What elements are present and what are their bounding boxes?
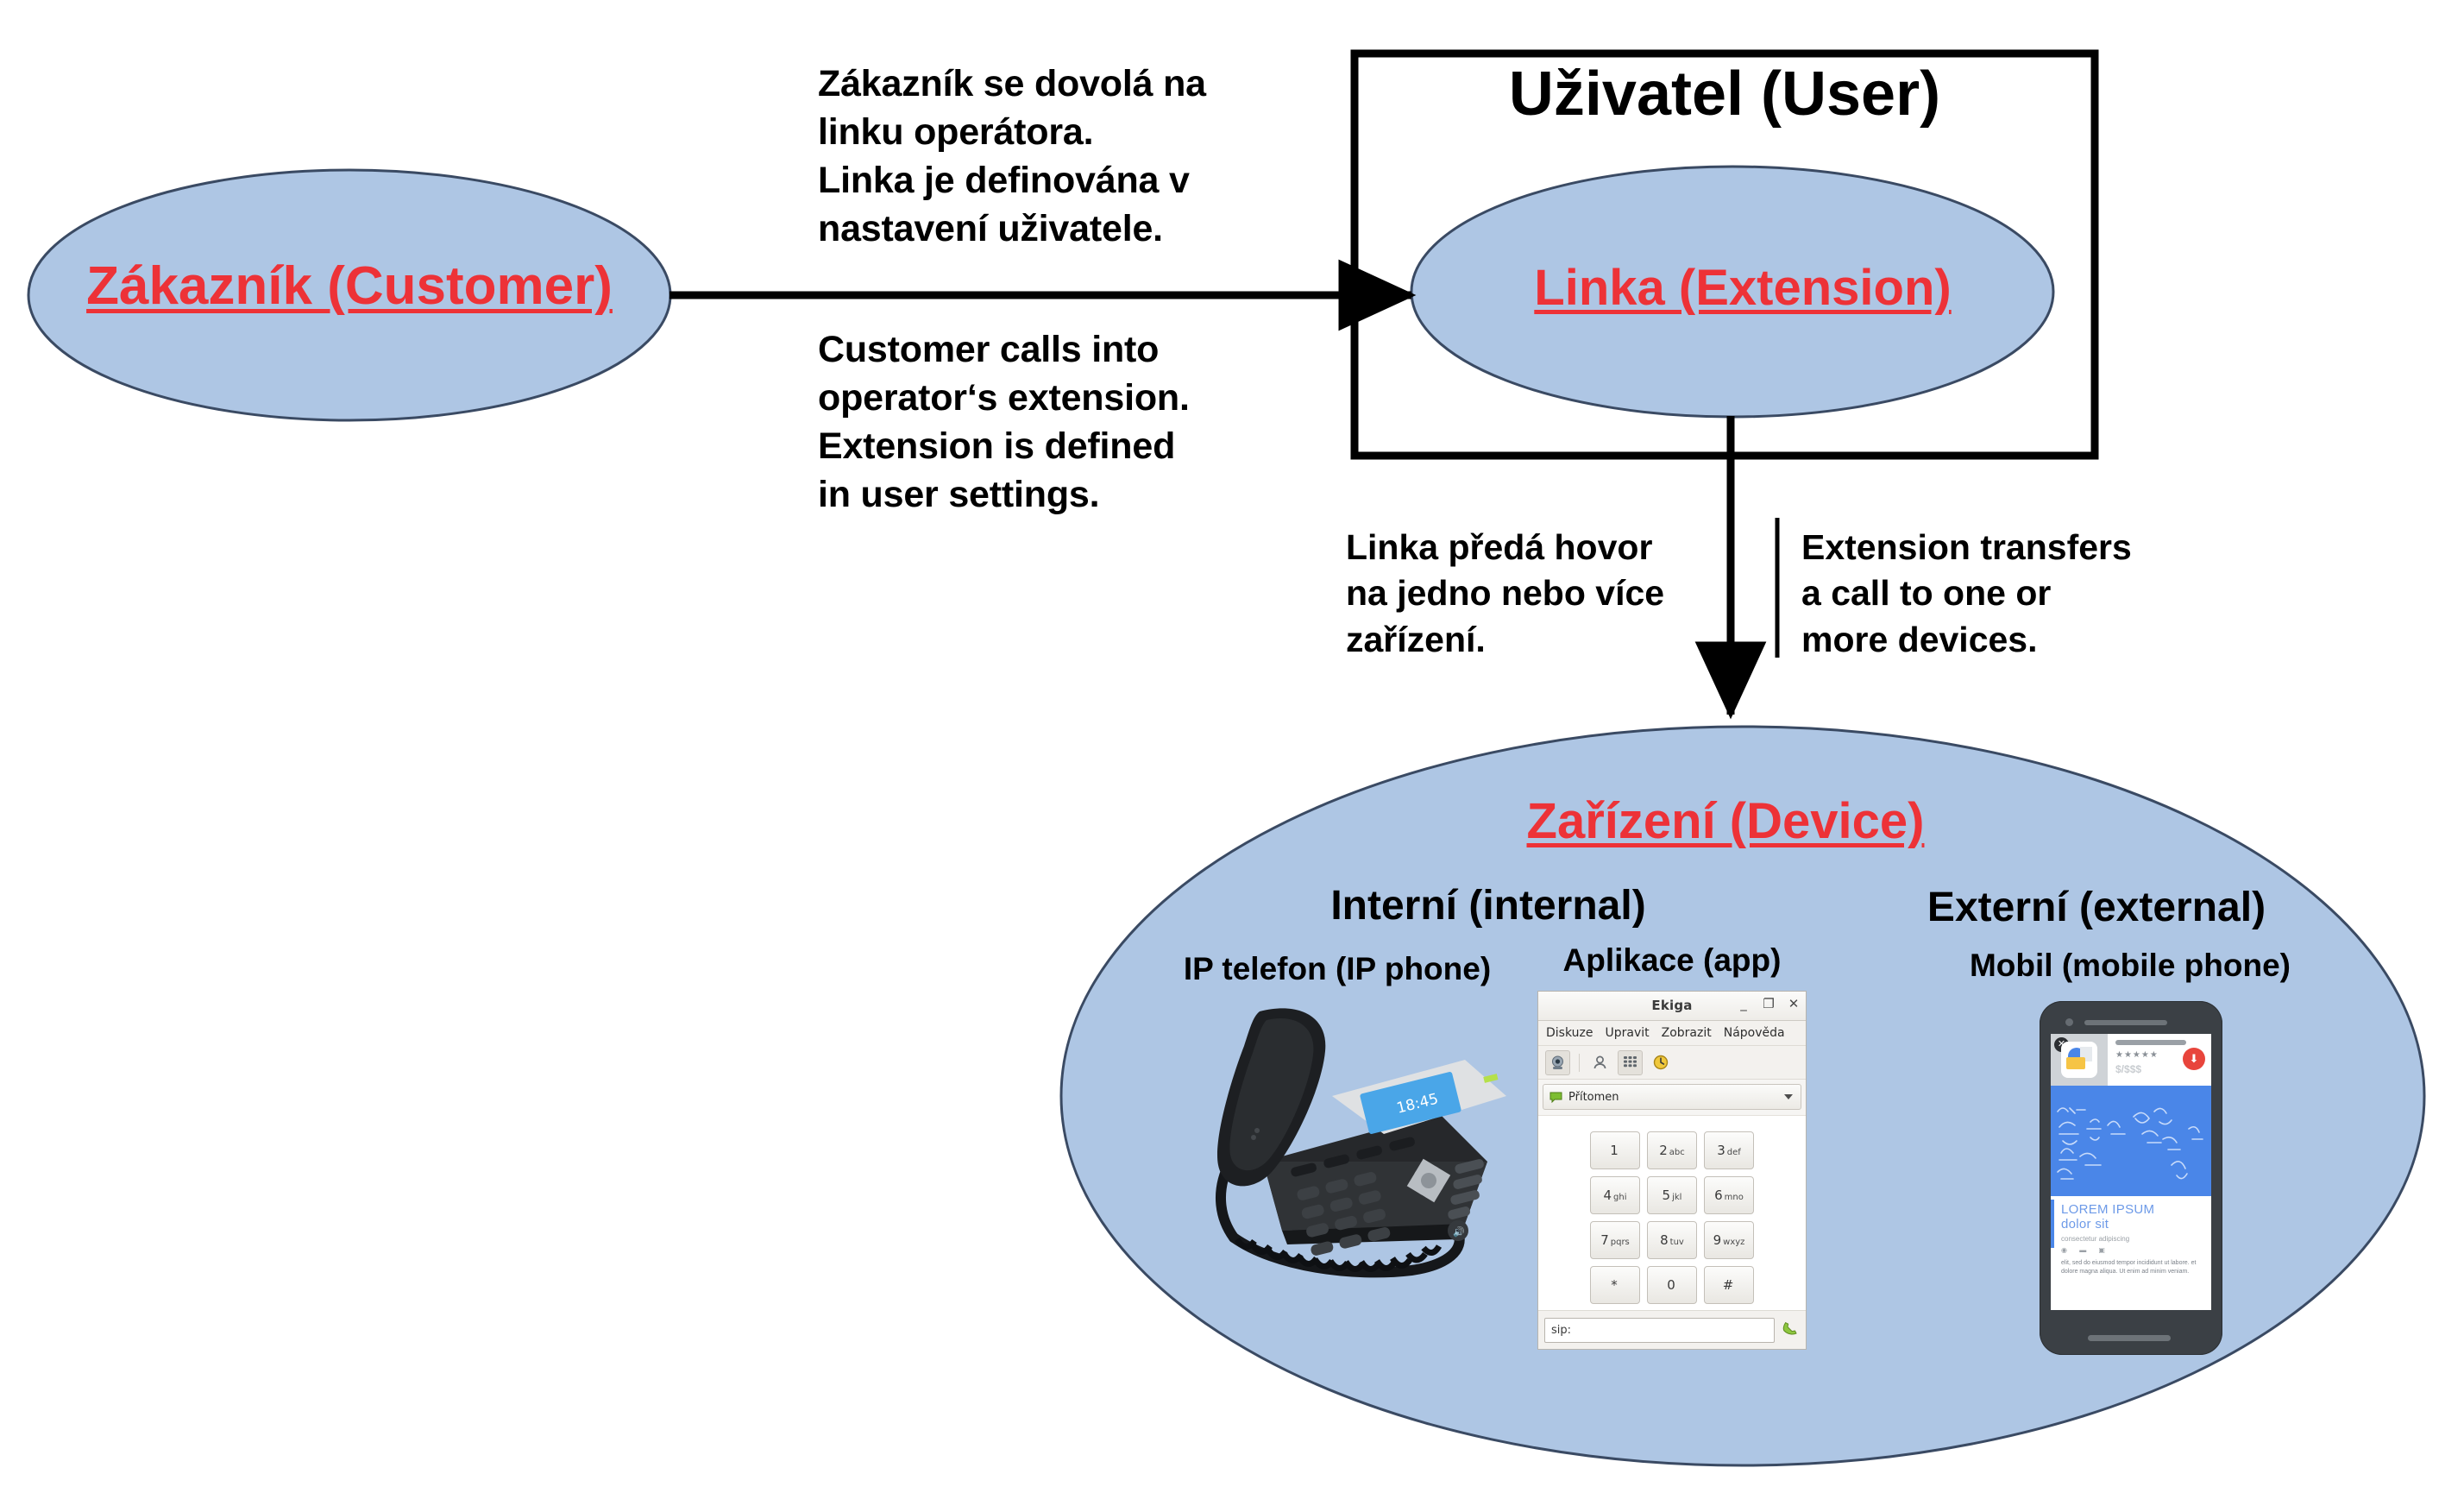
bottom-speaker [2088, 1335, 2171, 1341]
keypad-key: 0 [1647, 1266, 1697, 1304]
presence-status-select[interactable]: Přítomen [1543, 1084, 1801, 1110]
article-body: elit, sed do eiusmod tempor incididunt u… [2061, 1259, 2203, 1277]
key-letters: tuv [1670, 1238, 1684, 1247]
key-letters: abc [1669, 1148, 1685, 1157]
ekiga-keypad[interactable]: 1 2abc 3def 4ghi 5jkl 6mno 7pqrs 8tuv 9w… [1590, 1131, 1754, 1304]
keypad-key: 1 [1590, 1131, 1640, 1169]
device-caption-ip-phone: IP telefon (IP phone) [1156, 951, 1518, 987]
key-digit: 1 [1610, 1143, 1619, 1158]
key-digit: 5 [1663, 1187, 1671, 1203]
node-label-customer: Zákazník (Customer) [0, 255, 699, 317]
app-meta: ★★★★★ $/$$$ ⬇ [2108, 1034, 2211, 1086]
note-transfer-en: Extension transfers a call to one or mor… [1801, 525, 2216, 663]
node-label-extension: Linka (Extension) [1415, 259, 2071, 317]
maximize-icon[interactable]: ❐ [1762, 996, 1776, 1011]
device-caption-mobile: Mobil (mobile phone) [1927, 948, 2333, 984]
keypad-key: 3def [1704, 1131, 1754, 1169]
menu-item-napoveda[interactable]: Nápověda [1724, 1026, 1785, 1040]
keypad-key: # [1704, 1266, 1754, 1304]
menu-item-upravit[interactable]: Upravit [1605, 1026, 1649, 1040]
user-box-title: Uživatel (User) [1353, 59, 2096, 129]
key-digit: 0 [1667, 1277, 1675, 1293]
article-headline: LOREM IPSUM [2061, 1203, 2203, 1218]
presence-online-icon [1549, 1092, 1562, 1103]
front-camera-icon [2065, 1018, 2073, 1026]
presence-status-label: Přítomen [1568, 1091, 1619, 1104]
keypad-key: 4ghi [1590, 1176, 1640, 1214]
note-customer-call-cs: Zákazník se dovolá na linku operátora. L… [818, 60, 1318, 254]
app-thumbnail: ✕ [2051, 1034, 2108, 1086]
earpiece-speaker [2084, 1020, 2167, 1025]
key-letters: ghi [1613, 1193, 1626, 1202]
key-digit: 4 [1603, 1187, 1612, 1203]
ekiga-app-window[interactable]: Ekiga _ ❐ ✕ Diskuze Upravit Zobrazit Náp… [1537, 991, 1807, 1350]
sip-uri-value: sip: [1551, 1324, 1571, 1337]
ekiga-toolbar [1538, 1046, 1806, 1080]
app-promo-card[interactable]: ✕ ★★★★★ $/$$$ ⬇ [2051, 1034, 2211, 1086]
ekiga-dial-row: sip: [1538, 1310, 1806, 1349]
phone-screen: ✕ ★★★★★ $/$$$ ⬇ [2051, 1034, 2211, 1310]
app-icon [2061, 1042, 2097, 1078]
note-transfer-cs: Linka předá hovor na jedno nebo více zař… [1346, 525, 1743, 663]
article-meta-icons: ◉ ▬ ▣ [2061, 1246, 2203, 1254]
diagram-canvas: Uživatel (User) Zákazník (Customer) Link… [0, 0, 2464, 1493]
math-formula-doodle-icon [2051, 1086, 2211, 1196]
keypad-key: 8tuv [1647, 1221, 1697, 1259]
history-icon[interactable] [1649, 1051, 1672, 1074]
green-handset-icon[interactable] [1781, 1319, 1800, 1341]
mobile-phone-image: ✕ ★★★★★ $/$$$ ⬇ [2040, 1001, 2222, 1355]
key-letters: def [1727, 1148, 1741, 1157]
key-digit: 6 [1714, 1187, 1723, 1203]
device-group-internal: Interní (internal) [1191, 882, 1786, 929]
price-muted: $$$ [2124, 1063, 2141, 1075]
ekiga-window-buttons: _ ❐ ✕ [1737, 996, 1801, 1011]
key-letters: mno [1725, 1193, 1744, 1202]
key-digit: 9 [1713, 1232, 1722, 1248]
node-label-device: Zařízení (Device) [1415, 792, 2036, 850]
hero-image [2051, 1086, 2211, 1196]
article-headline-2: dolor sit [2061, 1218, 2203, 1232]
key-digit: # [1723, 1277, 1734, 1293]
key-digit: 7 [1600, 1232, 1609, 1248]
keypad-key: 7pqrs [1590, 1221, 1640, 1259]
contact-icon[interactable] [1588, 1051, 1612, 1074]
keypad-key: * [1590, 1266, 1640, 1304]
keypad-key: 2abc [1647, 1131, 1697, 1169]
minimize-icon[interactable]: _ [1737, 996, 1751, 1011]
menu-item-diskuze[interactable]: Diskuze [1546, 1026, 1593, 1040]
sip-uri-input[interactable]: sip: [1544, 1318, 1775, 1343]
note-customer-call-en: Customer calls into operator‘s extension… [818, 326, 1318, 520]
key-digit: 8 [1660, 1232, 1669, 1248]
ip-phone-image: 18:45 [1180, 992, 1508, 1355]
ekiga-titlebar[interactable]: Ekiga _ ❐ ✕ [1538, 992, 1806, 1021]
device-group-external: Externí (external) [1820, 884, 2373, 931]
download-icon[interactable]: ⬇ [2183, 1048, 2205, 1070]
keypad-key: 5jkl [1647, 1176, 1697, 1214]
key-digit: 2 [1659, 1143, 1668, 1158]
ekiga-menubar: Diskuze Upravit Zobrazit Nápověda [1538, 1021, 1806, 1046]
dialpad-icon[interactable] [1618, 1050, 1643, 1075]
key-letters: jkl [1672, 1193, 1681, 1202]
app-title-placeholder [2115, 1040, 2186, 1045]
svg-text:🔊: 🔊 [1453, 1225, 1465, 1238]
article-subhead: consectetur adipiscing [2061, 1235, 2203, 1243]
device-caption-app: Aplikace (app) [1525, 942, 1819, 979]
menu-item-zobrazit[interactable]: Zobrazit [1662, 1026, 1712, 1040]
keypad-key: 9wxyz [1704, 1221, 1754, 1259]
toolbar-separator [1579, 1054, 1580, 1072]
article-preview: LOREM IPSUM dolor sit consectetur adipis… [2051, 1196, 2211, 1310]
key-letters: pqrs [1611, 1238, 1630, 1247]
accent-bar [2051, 1200, 2054, 1248]
close-icon[interactable]: ✕ [1787, 996, 1801, 1011]
chevron-down-icon[interactable] [1784, 1094, 1793, 1099]
key-digit: * [1611, 1277, 1618, 1293]
webcam-icon[interactable] [1545, 1050, 1570, 1075]
ekiga-keypad-area: 1 2abc 3def 4ghi 5jkl 6mno 7pqrs 8tuv 9w… [1538, 1115, 1806, 1320]
keypad-key: 6mno [1704, 1176, 1754, 1214]
key-digit: 3 [1717, 1143, 1725, 1158]
price-value: $/ [2115, 1063, 2124, 1075]
key-letters: wxyz [1723, 1238, 1744, 1247]
